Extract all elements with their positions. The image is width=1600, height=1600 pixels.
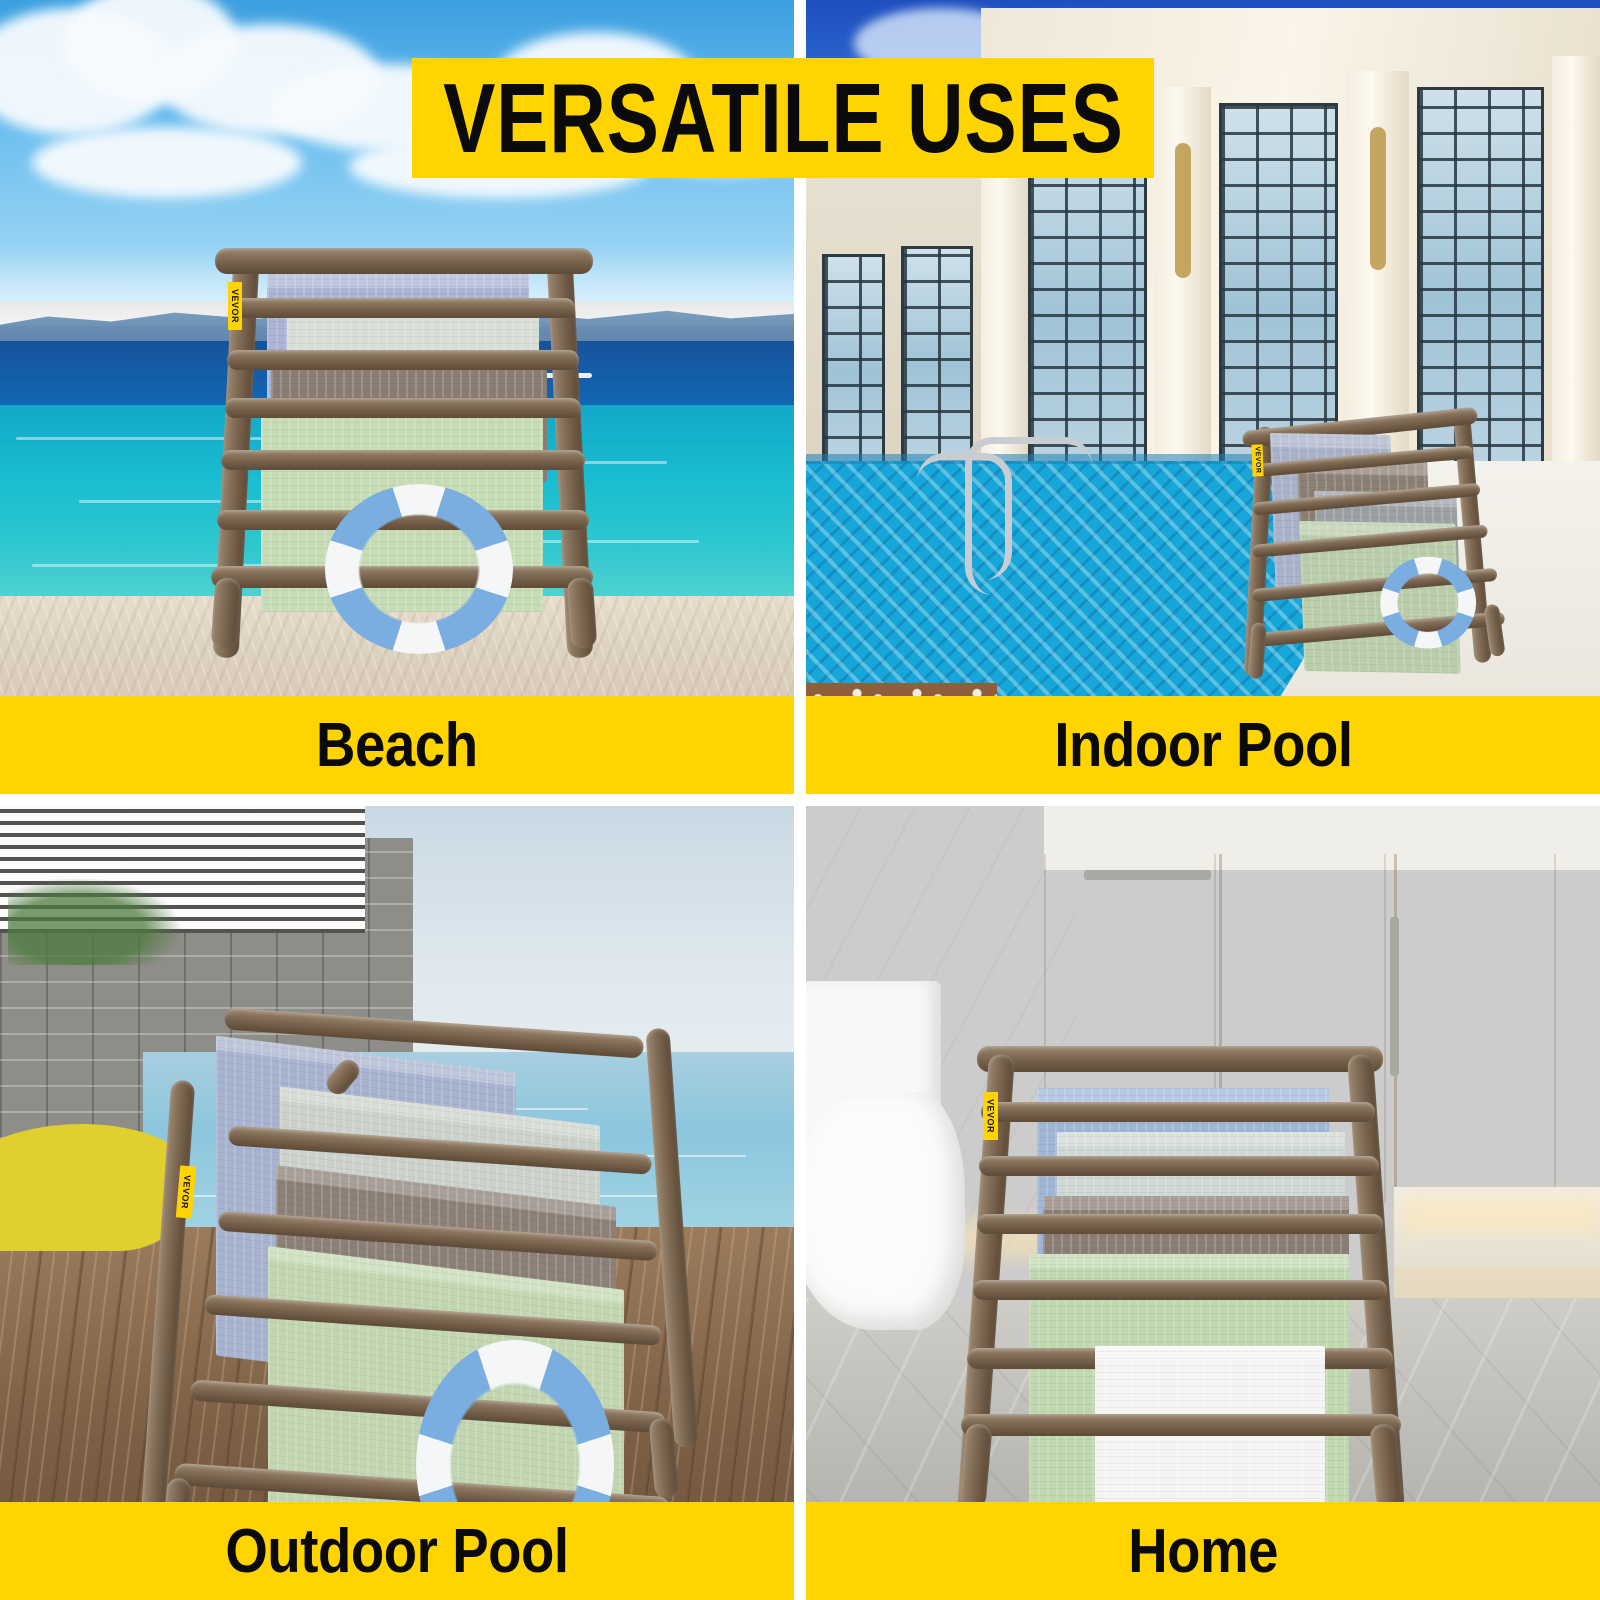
vevor-logo-sticker: VEVOR (176, 1165, 196, 1218)
caption-outdoor-pool: Outdoor Pool (0, 1502, 794, 1600)
pool-ladder-rail (965, 437, 1092, 596)
towel-rack-indoor: VEVOR (1234, 413, 1543, 673)
rack-rung (981, 1102, 1375, 1122)
rack-rung (979, 1156, 1379, 1176)
towel-rack-outdoor: VEVOR (100, 1018, 740, 1578)
rack-foot-right (567, 577, 598, 649)
under-cabinet-light (1402, 1195, 1600, 1235)
column (1552, 56, 1600, 485)
cloud-icon (32, 127, 302, 198)
caption-beach: Beach (0, 696, 794, 794)
foliage (8, 877, 183, 964)
rack-rung (225, 398, 581, 418)
title-banner: VERSATILE USES (412, 58, 1154, 178)
arched-window (1028, 127, 1147, 476)
caption-indoor-pool: Indoor Pool (806, 696, 1600, 794)
vevor-logo-sticker: VEVOR (228, 282, 242, 330)
scene-home: VEVOR (806, 806, 1600, 1600)
panel-outdoor-pool: VEVOR Outdoor Pool (0, 806, 794, 1600)
towel-rack-beach: VEVOR (205, 238, 605, 668)
life-ring (325, 484, 513, 654)
rack-base-bar (961, 1414, 1401, 1436)
rack-rung (977, 1214, 1383, 1234)
caption-label: Outdoor Pool (225, 1516, 568, 1587)
towel-rack-home: VEVOR (951, 1046, 1411, 1546)
rack-rung (227, 350, 579, 370)
rack-foot-left (211, 577, 242, 649)
rack-rung (221, 450, 585, 470)
panel-home: VEVOR Home (806, 806, 1600, 1600)
rack-leg-front-left (141, 1080, 196, 1521)
vevor-logo-sticker: VEVOR (983, 1092, 998, 1140)
wall-sconce-icon (1175, 143, 1191, 278)
rack-rung (229, 298, 575, 318)
caption-label: Home (1128, 1516, 1278, 1587)
infographic-canvas: VEVOR Beach (0, 0, 1600, 1600)
wall-sconce-icon (1370, 127, 1386, 270)
rack-foot-left (1248, 622, 1267, 679)
cabinet-handle (1084, 870, 1211, 880)
rack-top-bar (215, 248, 593, 274)
arched-window (901, 246, 972, 468)
scene-outdoor-pool: VEVOR (0, 806, 794, 1600)
rack-leg-rear-right (645, 1028, 698, 1449)
caption-home: Home (806, 1502, 1600, 1600)
title-text: VERSATILE USES (443, 69, 1124, 167)
rack-rung (973, 1280, 1387, 1300)
caption-label: Indoor Pool (1054, 710, 1352, 781)
toilet (806, 1092, 965, 1330)
caption-label: Beach (316, 710, 478, 781)
arched-window (822, 254, 886, 468)
rack-top-bar (977, 1046, 1383, 1072)
vevor-logo-sticker: VEVOR (1251, 444, 1263, 476)
